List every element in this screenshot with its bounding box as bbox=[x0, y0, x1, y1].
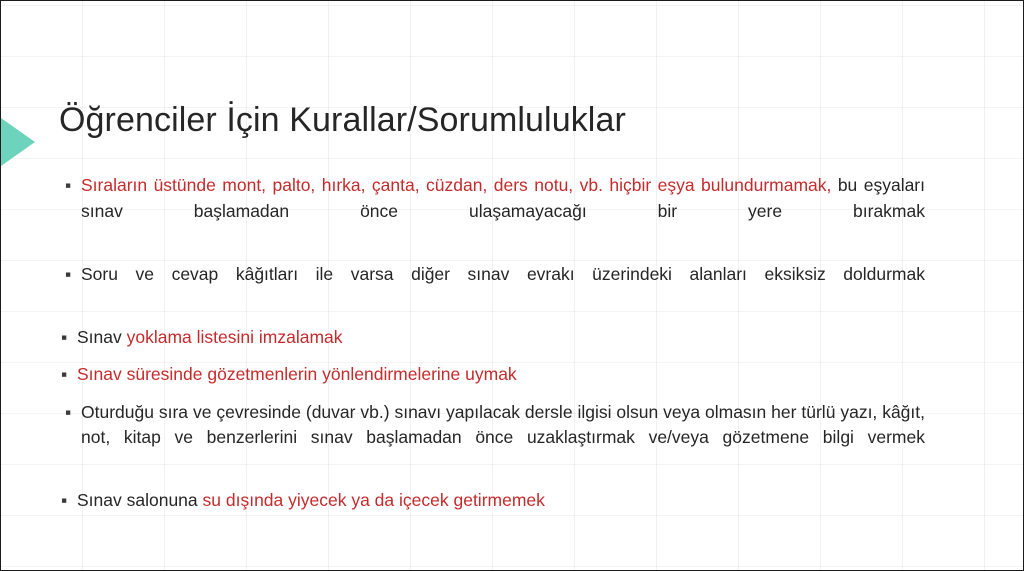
triangle-accent-icon bbox=[1, 118, 35, 166]
body-text: Soru ve cevap kâğıtları ile varsa diğer … bbox=[81, 264, 925, 284]
body-text: Sınav salonuna bbox=[77, 490, 203, 510]
list-item: ▪Sınav süresinde gözetmenlerin yönlendir… bbox=[59, 362, 925, 388]
bullet-marker-icon: ▪ bbox=[65, 262, 71, 288]
presentation-slide: Öğrenciler İçin Kurallar/Sorumluluklar ▪… bbox=[0, 0, 1024, 571]
body-text: Sınav bbox=[77, 327, 127, 347]
emphasized-text: Sıraların üstünde mont, palto, hırka, ça… bbox=[81, 175, 831, 195]
slide-title: Öğrenciler İçin Kurallar/Sorumluluklar bbox=[59, 99, 626, 141]
bullet-marker-icon: ▪ bbox=[61, 488, 67, 514]
list-item: ▪Oturduğu sıra ve çevresinde (duvar vb.)… bbox=[59, 400, 925, 477]
body-text: Oturduğu sıra ve çevresinde (duvar vb.) … bbox=[81, 402, 925, 448]
bullet-list: ▪Sıraların üstünde mont, palto, hırka, ç… bbox=[59, 173, 925, 526]
list-item: ▪Sınav yoklama listesini imzalamak bbox=[59, 325, 925, 351]
list-item: ▪Soru ve cevap kâğıtları ile varsa diğer… bbox=[59, 262, 925, 313]
bullet-marker-icon: ▪ bbox=[65, 400, 71, 426]
list-item: ▪Sınav salonuna su dışında yiyecek ya da… bbox=[59, 488, 925, 514]
emphasized-text: Sınav süresinde gözetmenlerin yönlendirm… bbox=[77, 364, 517, 384]
bullet-marker-icon: ▪ bbox=[61, 325, 67, 351]
emphasized-text: yoklama listesini imzalamak bbox=[127, 327, 343, 347]
bullet-marker-icon: ▪ bbox=[61, 362, 67, 388]
emphasized-text: su dışında yiyecek ya da içecek getirmem… bbox=[203, 490, 545, 510]
bullet-marker-icon: ▪ bbox=[65, 173, 71, 199]
list-item: ▪Sıraların üstünde mont, palto, hırka, ç… bbox=[59, 173, 925, 250]
slide-content: Öğrenciler İçin Kurallar/Sorumluluklar ▪… bbox=[59, 1, 925, 571]
